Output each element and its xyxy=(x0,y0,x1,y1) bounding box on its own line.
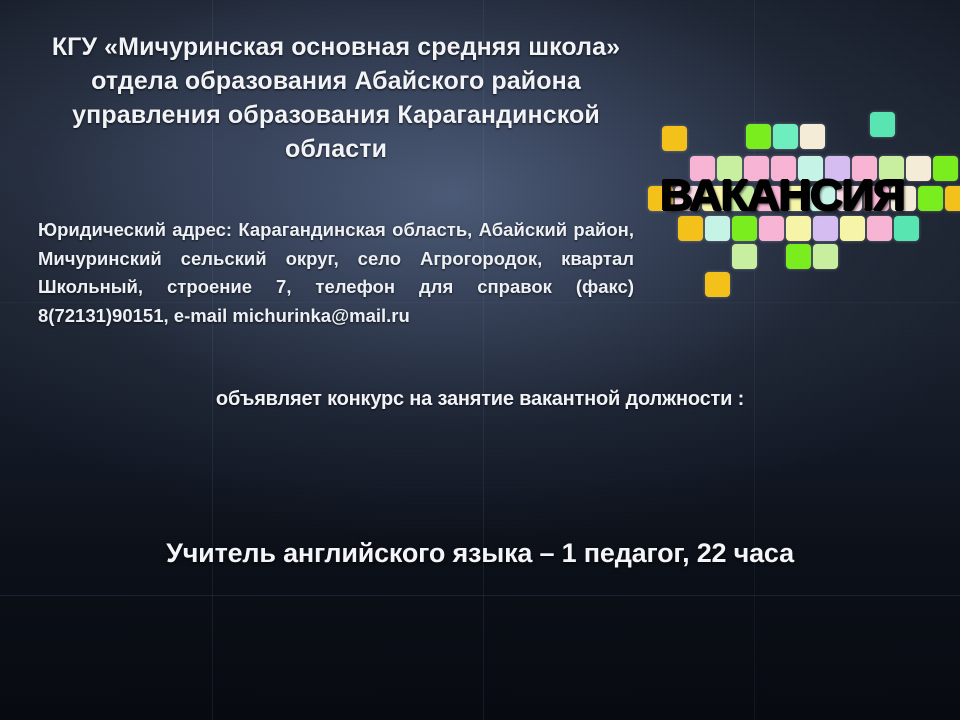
mosaic-tile xyxy=(662,126,687,151)
vacancy-mosaic-graphic: ВАКАНСИЯ xyxy=(648,112,960,302)
announcement-text: объявляет конкурс на занятие вакантной д… xyxy=(0,386,960,412)
background-seam-horizontal-lower xyxy=(0,595,960,596)
vacancy-position-text: Учитель английского языка – 1 педагог, 2… xyxy=(0,535,960,571)
legal-address-text: Юридический адрес: Карагандинская област… xyxy=(38,216,634,330)
mosaic-tile xyxy=(800,124,825,149)
background-seam-vertical-right xyxy=(754,0,755,720)
mosaic-tile xyxy=(786,244,811,269)
mosaic-tile xyxy=(773,124,798,149)
mosaic-tile xyxy=(746,124,771,149)
vacancy-wordmark: ВАКАНСИЯ xyxy=(660,174,960,218)
mosaic-tile xyxy=(705,272,730,297)
presentation-slide: КГУ «Мичуринская основная средняя школа»… xyxy=(0,0,960,720)
mosaic-tile xyxy=(870,112,895,137)
mosaic-tile xyxy=(732,244,757,269)
mosaic-tile xyxy=(813,244,838,269)
slide-title: КГУ «Мичуринская основная средняя школа»… xyxy=(26,30,646,166)
